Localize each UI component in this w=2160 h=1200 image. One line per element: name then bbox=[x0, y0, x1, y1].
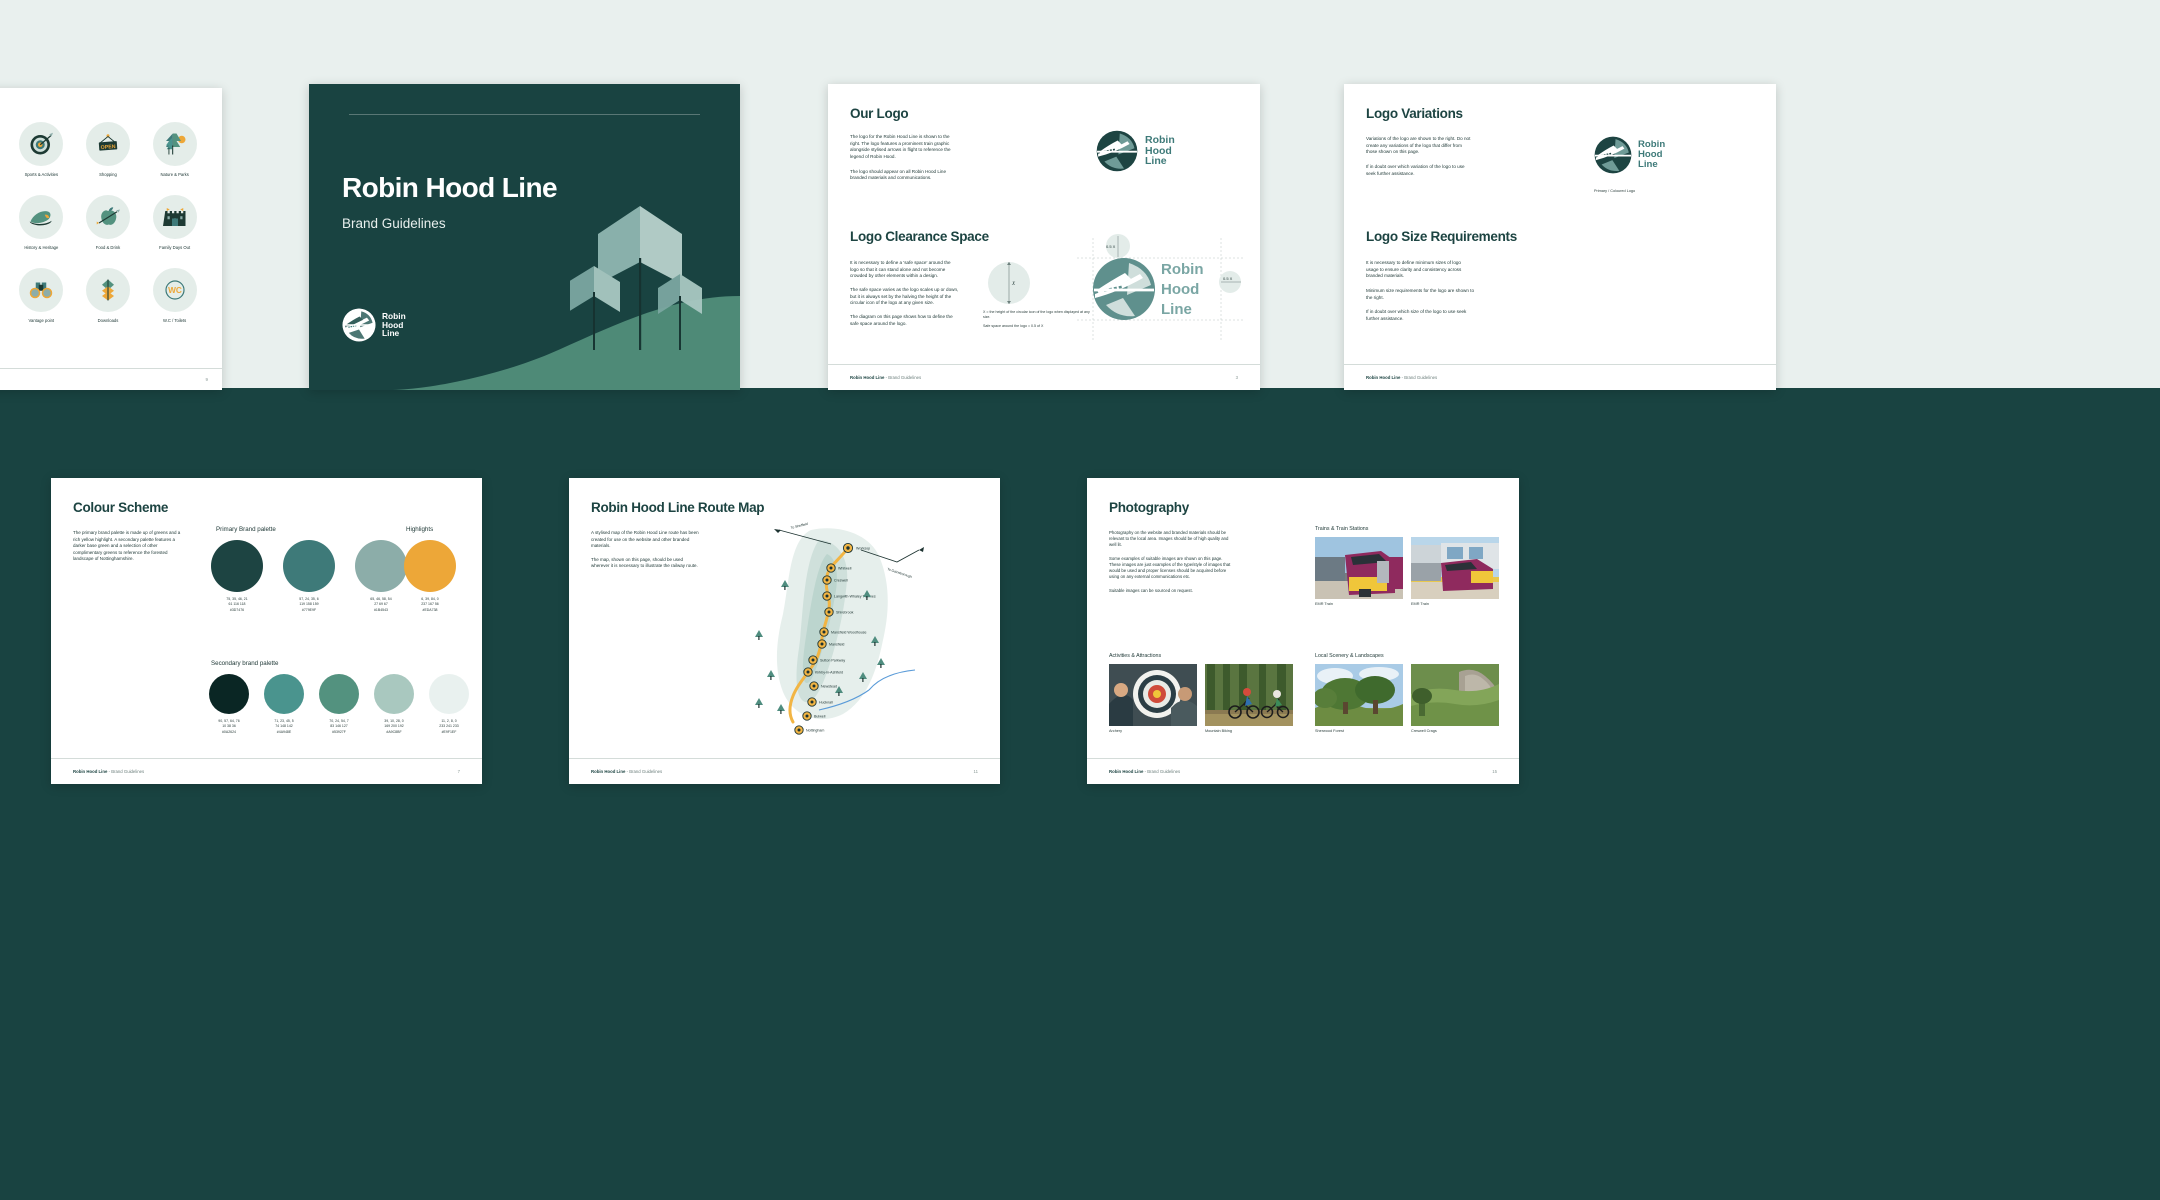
swatch-values: 65, 46, 58, 54 27 69 67 #1B4543 bbox=[355, 597, 407, 613]
svg-text:Line: Line bbox=[1161, 301, 1192, 318]
primary-palette-row: 75, 35, 46, 21 61 116 118 #3D7476 57, 24… bbox=[211, 540, 407, 613]
swatch-values: 11, 2, 8, 0 233 241 233 #E9F1EF bbox=[429, 719, 469, 735]
clearance-grid-diagram: 0.5 X 0.5 X Robin Hood Line bbox=[1073, 234, 1248, 344]
colour-swatch[interactable]: 71, 23, 45, 5 74 148 142 #4A948E bbox=[264, 674, 304, 735]
arrow-fletching-icon bbox=[86, 268, 130, 312]
photo-item[interactable]: EMR Train bbox=[1411, 537, 1499, 606]
icon-label: W.C / Toilets bbox=[141, 318, 208, 323]
icon-label: Vantage point bbox=[8, 318, 75, 323]
trees-illustration bbox=[570, 200, 710, 360]
svg-text:0.5 X: 0.5 X bbox=[1223, 276, 1233, 281]
station-label: Nottingham bbox=[806, 728, 824, 732]
slide-photography[interactable]: Photography Photography on the website a… bbox=[1087, 478, 1519, 784]
icon-label: Shopping bbox=[75, 172, 142, 177]
paragraph: The safe space varies as the logo scales… bbox=[850, 287, 960, 307]
icon-cell-sports[interactable]: Sports & Activities bbox=[8, 122, 75, 177]
paragraph: The logo should appear on all Robin Hood… bbox=[850, 169, 958, 182]
paragraph: Suitable images can be sourced on reques… bbox=[1109, 588, 1231, 594]
paragraph: It is necessary to define a 'safe space'… bbox=[850, 260, 960, 280]
svg-text:Hood: Hood bbox=[1161, 281, 1199, 298]
photo-caption: Archery bbox=[1109, 729, 1197, 733]
connector-label: To Gainsborough bbox=[887, 567, 913, 579]
logo-line: Line bbox=[1638, 160, 1665, 170]
icon-label: Food & Drink bbox=[75, 245, 142, 250]
photo-caption: Sherwood Forest bbox=[1315, 729, 1403, 733]
icon-cell-vantage[interactable]: Vantage point bbox=[8, 268, 75, 323]
robin-hood-line-logo-icon bbox=[342, 308, 376, 342]
photo-creswell-crags[interactable] bbox=[1411, 664, 1499, 726]
section-heading-logo-size: Logo Size Requirements bbox=[1366, 229, 1517, 244]
station-label: Whitwell bbox=[838, 566, 852, 570]
colour-swatch[interactable]: 65, 46, 58, 54 27 69 67 #1B4543 bbox=[355, 540, 407, 613]
archery-target-icon bbox=[19, 122, 63, 166]
icon-cell-history[interactable]: History & Heritage bbox=[8, 195, 75, 250]
icon-label: Family Days Out bbox=[141, 245, 208, 250]
title-divider bbox=[349, 114, 700, 115]
page-title: Robin Hood Line bbox=[342, 172, 557, 204]
icon-cell-downloads[interactable]: Downloads bbox=[75, 268, 142, 323]
swatch-values: 70, 24, 54, 7 83 146 127 #53927F bbox=[319, 719, 359, 735]
station-label: Newstead bbox=[821, 684, 837, 688]
icon-grid: Sports & Activities OPEN Shopping bbox=[8, 122, 208, 323]
photo-item[interactable]: Archery bbox=[1109, 664, 1197, 733]
footer-brand: Robin Hood Line - Brand Guidelines bbox=[1366, 375, 1437, 380]
photo-item[interactable]: Mountain Biking bbox=[1205, 664, 1293, 733]
primary-logo-lockup: Robin Hood Line bbox=[1096, 130, 1175, 172]
secondary-palette-row: 90, 57, 64, 76 10 38 36 #0A2624 71, 23, … bbox=[209, 674, 469, 735]
x-measure-diagram: X bbox=[983, 259, 1058, 314]
photo-group-trains: Trains & Train Stations bbox=[1315, 526, 1499, 606]
icon-label: Nature & Parks bbox=[141, 172, 208, 177]
robin-hood-hat-icon bbox=[19, 195, 63, 239]
swatch-values: 57, 24, 35, 6 119 158 159 #779E9F bbox=[283, 597, 335, 613]
colour-swatch[interactable]: 90, 57, 64, 76 10 38 36 #0A2624 bbox=[209, 674, 249, 735]
our-logo-copy: The logo for the Robin Hood Line is show… bbox=[850, 134, 958, 182]
slide-title[interactable]: Robin Hood Line Brand Guidelines Robin H… bbox=[309, 84, 740, 390]
paragraph: If in doubt over which size of the logo … bbox=[1366, 309, 1474, 322]
slide-logo-variations[interactable]: Logo Variations Variations of the logo a… bbox=[1344, 84, 1776, 390]
photo-group-activities: Activities & Attractions bbox=[1109, 653, 1293, 733]
slide-footer: Robin Hood Line - Brand Guidelines 15 bbox=[1087, 758, 1519, 784]
paragraph: A stylised map of the Robin Hood Line ro… bbox=[591, 530, 701, 550]
swatch-values: 6, 39, 84, 0 237 167 56 #EDA738 bbox=[404, 597, 456, 613]
slide-colour-scheme[interactable]: Colour Scheme The primary brand palette … bbox=[51, 478, 482, 784]
binoculars-icon bbox=[19, 268, 63, 312]
page-number: 3 bbox=[1236, 375, 1238, 380]
station-label: Bulwell bbox=[814, 714, 826, 718]
page-subtitle: Brand Guidelines bbox=[342, 216, 446, 231]
swatch-disc bbox=[283, 540, 335, 592]
robin-hood-line-logo-icon bbox=[1096, 130, 1138, 172]
swatch-values: 75, 35, 46, 21 61 116 118 #3D7476 bbox=[211, 597, 263, 613]
icon-cell-family[interactable]: Family Days Out bbox=[141, 195, 208, 250]
svg-text:OPEN: OPEN bbox=[100, 144, 115, 151]
icon-label: Sports & Activities bbox=[8, 172, 75, 177]
icon-cell-wc[interactable]: WC W.C / Toilets bbox=[141, 268, 208, 323]
swatch-disc bbox=[319, 674, 359, 714]
brand-logo: Robin Hood Line bbox=[342, 308, 406, 342]
photo-caption: Creswell Crags bbox=[1411, 729, 1499, 733]
slide-route-map[interactable]: Robin Hood Line Route Map A stylised map… bbox=[569, 478, 1000, 784]
photo-train-front[interactable] bbox=[1315, 537, 1403, 599]
colour-swatch[interactable]: 39, 10, 28, 0 169 200 192 #A9C8BF bbox=[374, 674, 414, 735]
icon-label: History & Heritage bbox=[8, 245, 75, 250]
photography-copy: Photography on the website and branded m… bbox=[1109, 530, 1231, 594]
paragraph: The diagram on this page shows how to de… bbox=[850, 314, 960, 327]
swatch-disc bbox=[264, 674, 304, 714]
photo-group-title: Local Scenery & Landscapes bbox=[1315, 653, 1499, 659]
photo-caption: EMR Train bbox=[1411, 602, 1499, 606]
footer-brand: Robin Hood Line - Brand Guidelines bbox=[850, 375, 921, 380]
swatch-values: 71, 23, 45, 5 74 148 142 #4A948E bbox=[264, 719, 304, 735]
photo-item[interactable]: Creswell Crags bbox=[1411, 664, 1499, 733]
page-title: Colour Scheme bbox=[73, 500, 168, 515]
page-number: 15 bbox=[1492, 769, 1497, 774]
swatch-disc bbox=[209, 674, 249, 714]
photo-caption: EMR Train bbox=[1315, 602, 1403, 606]
swatch-values: 39, 10, 28, 0 169 200 192 #A9C8BF bbox=[374, 719, 414, 735]
wc-toilets-icon: WC bbox=[153, 268, 197, 312]
swatch-disc bbox=[404, 540, 456, 592]
slide-footer: Robin Hood Line - Brand Guidelines bbox=[1344, 364, 1776, 390]
svg-text:WC: WC bbox=[168, 286, 182, 295]
icon-cell-food[interactable]: Food & Drink bbox=[75, 195, 142, 250]
swatch-disc bbox=[429, 674, 469, 714]
station-label: Kirkby-in-Ashfield bbox=[815, 670, 843, 674]
station-label: Creswell bbox=[834, 578, 848, 582]
highlights-row: 6, 39, 84, 0 237 167 56 #EDA738 bbox=[404, 540, 456, 613]
paragraph: Some examples of suitable images are sho… bbox=[1109, 556, 1231, 581]
svg-text:0.5 X: 0.5 X bbox=[1106, 244, 1116, 249]
route-map-copy: A stylised map of the Robin Hood Line ro… bbox=[591, 530, 701, 570]
paragraph: Minimum size requirements for the logo a… bbox=[1366, 288, 1474, 301]
robin-hood-line-logo-icon bbox=[1594, 136, 1632, 174]
icon-cell-nature[interactable]: Nature & Parks bbox=[141, 122, 208, 177]
station-label: Worksop bbox=[856, 546, 870, 550]
apple-arrow-icon bbox=[86, 195, 130, 239]
open-sign-icon: OPEN bbox=[86, 122, 130, 166]
station-label: Mansfield Woodhouse bbox=[831, 630, 867, 634]
paragraph: Variations of the logo are shown to the … bbox=[1366, 136, 1474, 156]
secondary-palette-title: Secondary brand palette bbox=[211, 660, 278, 667]
footer-brand: Robin Hood Line - Brand Guidelines bbox=[1109, 769, 1180, 774]
connector-label: To Sheffield bbox=[790, 522, 808, 530]
photo-sherwood-forest[interactable] bbox=[1315, 664, 1403, 726]
station-label: Hucknall bbox=[819, 700, 833, 704]
variation-primary-logo: Robin Hood Line bbox=[1594, 136, 1665, 174]
slide-our-logo[interactable]: Our Logo The logo for the Robin Hood Lin… bbox=[828, 84, 1260, 390]
slide-footer: Robin Hood Line - Brand Guidelines 11 bbox=[569, 758, 1000, 784]
footer-brand: Robin Hood Line - Brand Guidelines bbox=[73, 769, 144, 774]
photo-caption: Mountain Biking bbox=[1205, 729, 1293, 733]
photo-group-title: Activities & Attractions bbox=[1109, 653, 1293, 659]
icon-cell-shopping[interactable]: OPEN Shopping bbox=[75, 122, 142, 177]
page-title: Photography bbox=[1109, 500, 1189, 515]
castle-icon bbox=[153, 195, 197, 239]
photo-group-title: Trains & Train Stations bbox=[1315, 526, 1499, 532]
logo-line: Line bbox=[1145, 156, 1175, 167]
station-label: Shirebrook bbox=[836, 610, 854, 614]
slide-footer: 9 bbox=[0, 368, 222, 390]
swatch-disc bbox=[211, 540, 263, 592]
photo-item[interactable]: EMR Train bbox=[1315, 537, 1403, 606]
variations-copy: Variations of the logo are shown to the … bbox=[1366, 136, 1474, 177]
slide-footer: Robin Hood Line - Brand Guidelines 7 bbox=[51, 758, 482, 784]
slide-footer: Robin Hood Line - Brand Guidelines 3 bbox=[828, 364, 1260, 390]
colour-intro-copy: The primary brand palette is made up of … bbox=[73, 530, 183, 563]
icon-label: Downloads bbox=[75, 318, 142, 323]
section-heading-logo-variations: Logo Variations bbox=[1366, 106, 1463, 121]
footer-brand: Robin Hood Line - Brand Guidelines bbox=[591, 769, 662, 774]
station-label: Mansfield bbox=[829, 642, 844, 646]
page-number: 9 bbox=[205, 377, 208, 382]
route-map-graphic[interactable]: To Sheffield To Gainsborough Worksop Whi… bbox=[719, 510, 969, 735]
primary-palette-title: Primary Brand palette bbox=[216, 526, 276, 533]
swatch-disc bbox=[355, 540, 407, 592]
paragraph: The map, shown on this page, should be u… bbox=[591, 557, 701, 570]
colour-swatch[interactable]: 11, 2, 8, 0 233 241 233 #E9F1EF bbox=[429, 674, 469, 735]
station-label: Sutton Parkway bbox=[820, 658, 845, 662]
swatch-values: 90, 57, 64, 76 10 38 36 #0A2624 bbox=[209, 719, 249, 735]
trees-sun-icon bbox=[153, 122, 197, 166]
svg-text:Robin: Robin bbox=[1161, 261, 1204, 278]
photo-train-platform[interactable] bbox=[1411, 537, 1499, 599]
clearance-copy: It is necessary to define a 'safe space'… bbox=[850, 260, 960, 327]
colour-swatch[interactable]: 70, 24, 54, 7 83 146 127 #53927F bbox=[319, 674, 359, 735]
page-number: 7 bbox=[458, 769, 460, 774]
photo-group-scenery: Local Scenery & Landscapes bbox=[1315, 653, 1499, 733]
logo-line: Line bbox=[382, 329, 406, 338]
paragraph: It is necessary to define minimum sizes … bbox=[1366, 260, 1474, 280]
colour-swatch[interactable]: 6, 39, 84, 0 237 167 56 #EDA738 bbox=[404, 540, 456, 613]
colour-swatch[interactable]: 57, 24, 35, 6 119 158 159 #779E9F bbox=[283, 540, 335, 613]
logo-size-copy: It is necessary to define minimum sizes … bbox=[1366, 260, 1474, 323]
variation-caption: Primary / Coloured Logo bbox=[1594, 189, 1635, 193]
colour-swatch[interactable]: 75, 35, 46, 21 61 116 118 #3D7476 bbox=[211, 540, 263, 613]
section-heading-clearance: Logo Clearance Space bbox=[850, 229, 989, 244]
highlights-title: Highlights bbox=[406, 526, 433, 533]
paragraph: Photography on the website and branded m… bbox=[1109, 530, 1231, 549]
paragraph: If in doubt over which variation of the … bbox=[1366, 164, 1474, 177]
photo-archery[interactable] bbox=[1109, 664, 1197, 726]
slide-icon-library[interactable]: Sports & Activities OPEN Shopping bbox=[0, 88, 222, 390]
photo-mountain-biking[interactable] bbox=[1205, 664, 1293, 726]
photo-item[interactable]: Sherwood Forest bbox=[1315, 664, 1403, 733]
paragraph: The logo for the Robin Hood Line is show… bbox=[850, 134, 958, 161]
swatch-disc bbox=[374, 674, 414, 714]
logo-line: Robin bbox=[1145, 135, 1175, 146]
section-heading-our-logo: Our Logo bbox=[850, 106, 908, 121]
page-number: 11 bbox=[974, 769, 978, 774]
